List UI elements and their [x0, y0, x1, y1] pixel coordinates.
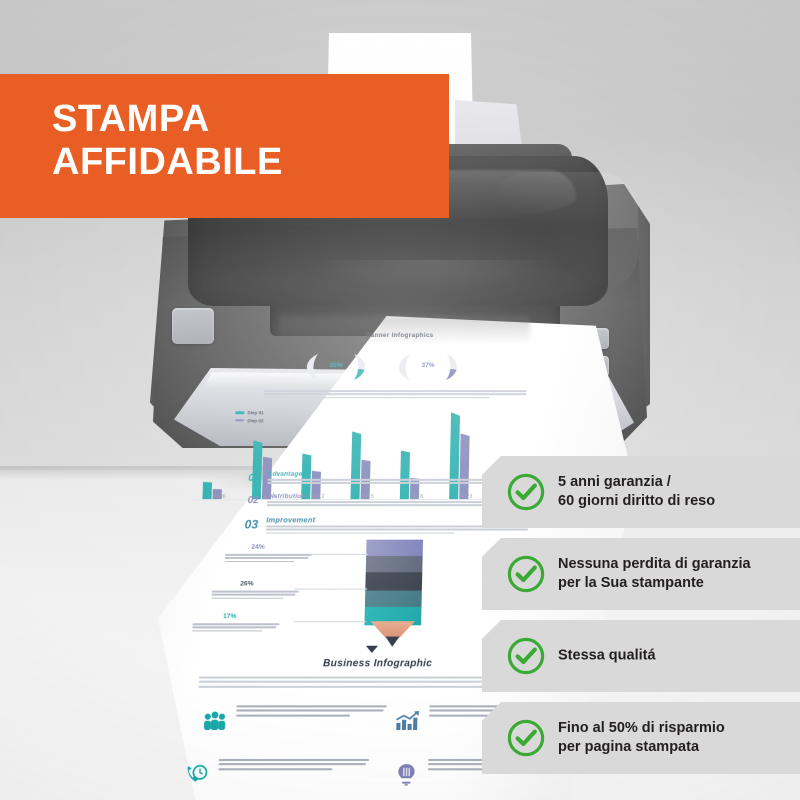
feature-panel-4[interactable]: Fino al 50% di risparmio per pagina stam… — [482, 702, 800, 774]
headline-line-1: STAMPA — [52, 98, 449, 141]
check-circle-icon — [506, 554, 546, 594]
feature-text-1: 5 anni garanzia / 60 giorni diritto di r… — [558, 473, 715, 511]
headline-line-2: AFFIDABILE — [52, 141, 449, 184]
feature-text-4-line-1: Fino al 50% di risparmio — [558, 719, 725, 738]
feature-panel-3[interactable]: Stessa qualitá — [482, 620, 800, 692]
feature-text-2: Nessuna perdita di garanzia per la Sua s… — [558, 555, 751, 593]
feature-text-3-line-1: Stessa qualitá — [558, 646, 656, 665]
feature-panel-1[interactable]: 5 anni garanzia / 60 giorni diritto di r… — [482, 456, 800, 528]
feature-text-2-line-2: per la Sua stampante — [558, 574, 751, 593]
poster-canvas: Banner Infographics 35% 37% Step 01 Step… — [0, 0, 800, 800]
headline-banner: STAMPA AFFIDABILE — [0, 74, 449, 218]
feature-text-1-line-1: 5 anni garanzia / — [558, 473, 715, 492]
feature-text-2-line-1: Nessuna perdita di garanzia — [558, 555, 751, 574]
feature-text-4-line-2: per pagina stampata — [558, 738, 725, 757]
check-circle-icon — [506, 718, 546, 758]
check-circle-icon — [506, 472, 546, 512]
feature-text-3: Stessa qualitá — [558, 646, 656, 665]
feature-panel-2[interactable]: Nessuna perdita di garanzia per la Sua s… — [482, 538, 800, 610]
feature-text-4: Fino al 50% di risparmio per pagina stam… — [558, 719, 725, 757]
check-circle-icon — [506, 636, 546, 676]
feature-text-1-line-2: 60 giorni diritto di reso — [558, 492, 715, 511]
